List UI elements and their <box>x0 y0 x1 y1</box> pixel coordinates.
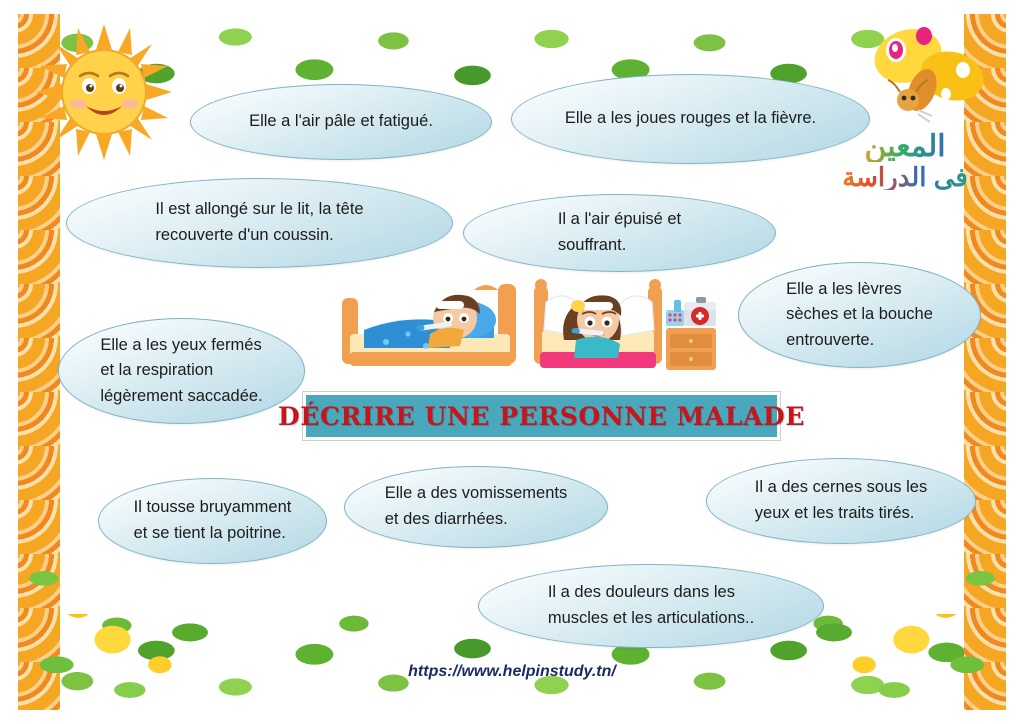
logo-line-2: في الدراسة <box>820 164 990 190</box>
bubble-tousse-poitrine[interactable]: Il tousse bruyamment et se tient la poit… <box>98 478 327 564</box>
logo-line-1: المعين <box>820 132 990 162</box>
bubble-text: Il est allongé sur le lit, la tête recou… <box>141 197 377 248</box>
girl-sick-in-bed <box>534 279 662 368</box>
bubble-text: Il a des douleurs dans les muscles et le… <box>534 580 768 631</box>
bubble-vomissements[interactable]: Elle a des vomissements et des diarrhées… <box>344 466 608 548</box>
bubble-yeux-fermes[interactable]: Elle a les yeux fermés et la respiration… <box>58 318 305 424</box>
bubble-text: Elle a l'air pâle et fatigué. <box>235 109 447 135</box>
title-banner: DÉCRIRE UNE PERSONNE MALADE <box>303 392 780 440</box>
bubble-text: Elle a les yeux fermés et la respiration… <box>86 333 276 410</box>
site-url-text: https://www.helpinstudy.tn/ <box>408 663 616 680</box>
bubble-cernes-traits[interactable]: Il a des cernes sous les yeux et les tra… <box>706 458 976 544</box>
bubble-epuise-souffrant[interactable]: Il a l'air épuisé et souffrant. <box>463 194 776 272</box>
bubble-text: Il tousse bruyamment et se tient la poit… <box>120 495 306 546</box>
bubble-douleurs-muscles[interactable]: Il a des douleurs dans les muscles et le… <box>478 564 824 648</box>
bubble-text: Elle a les lèvres sèches et la bouche en… <box>772 277 947 354</box>
site-logo: المعين في الدراسة <box>820 132 990 210</box>
footer-url[interactable]: https://www.helpinstudy.tn/ <box>0 663 1024 681</box>
bubble-levres-seches[interactable]: Elle a les lèvres sèches et la bouche en… <box>738 262 981 368</box>
sick-children-illustration <box>330 272 730 394</box>
boy-sick-in-bed <box>342 284 516 366</box>
bubble-text: Elle a des vomissements et des diarrhées… <box>371 481 582 532</box>
bubble-pale-fatigue[interactable]: Elle a l'air pâle et fatigué. <box>190 84 492 160</box>
first-aid-kit-nightstand <box>666 297 716 370</box>
yellow-butterfly-icon <box>866 18 996 128</box>
bubble-text: Elle a les joues rouges et la fièvre. <box>551 106 830 132</box>
poster: المعين في الدراسة <box>0 0 1024 724</box>
smiling-sun-icon <box>34 22 174 162</box>
bubble-allonge-lit[interactable]: Il est allongé sur le lit, la tête recou… <box>66 178 453 268</box>
bubble-text: Il a des cernes sous les yeux et les tra… <box>741 475 941 526</box>
page-title: DÉCRIRE UNE PERSONNE MALADE <box>278 402 805 431</box>
bubble-text: Il a l'air épuisé et souffrant. <box>544 207 695 258</box>
bubble-joues-rouges[interactable]: Elle a les joues rouges et la fièvre. <box>511 74 870 164</box>
